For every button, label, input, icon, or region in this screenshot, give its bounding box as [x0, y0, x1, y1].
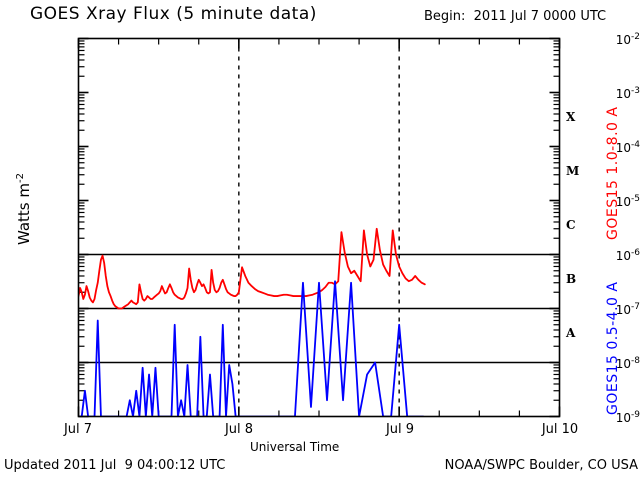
xray-flux-plot: GOES Xray Flux (5 minute data) Begin: 20… — [0, 0, 640, 480]
plot-frame — [79, 39, 560, 417]
plot-canvas — [0, 0, 640, 480]
grid-group — [79, 39, 560, 417]
tick-marks — [79, 39, 560, 417]
data-series-group — [79, 229, 425, 417]
series-long-channel — [79, 229, 425, 309]
